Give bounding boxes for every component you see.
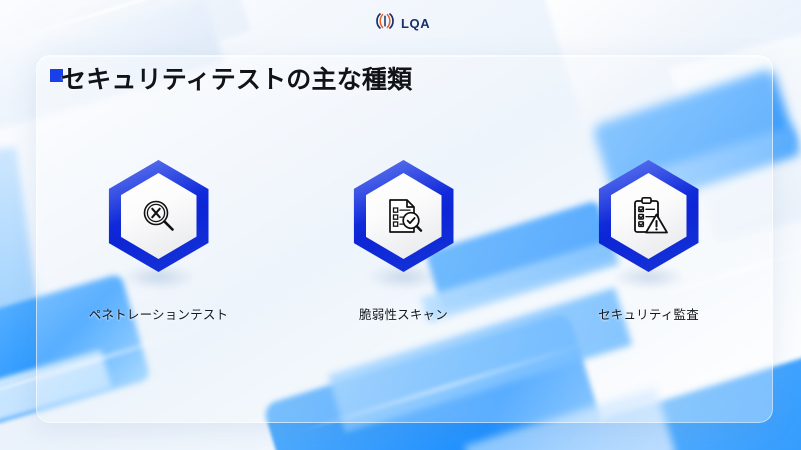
page-title-text: セキュリティテストの主な種類 — [61, 66, 412, 95]
hexagon-badge — [106, 160, 212, 278]
page-title: セキュリティテストの主な種類 — [50, 66, 412, 95]
clipboard-warning-icon — [611, 173, 687, 259]
list-item-security-audit[interactable]: セキュリティ監査 — [526, 160, 771, 323]
brand-logo: LQA — [375, 12, 430, 35]
list-item-label: ペネトレーションテスト — [89, 304, 228, 323]
list-item-label: 脆弱性スキャン — [359, 304, 448, 323]
list-item-penetration-test[interactable]: ペネトレーションテスト — [36, 160, 281, 323]
magnifier-x-icon — [121, 173, 197, 259]
hexagon-badge — [351, 160, 457, 278]
item-list: ペネトレーションテスト — [36, 160, 771, 323]
slide-canvas: LQA セキュリティテストの主な種類 — [0, 0, 801, 450]
brand-name: LQA — [401, 17, 430, 30]
document-scan-check-icon — [366, 173, 442, 259]
hexagon-badge — [596, 160, 702, 278]
list-item-vulnerability-scan[interactable]: 脆弱性スキャン — [281, 160, 526, 323]
list-item-label: セキュリティ監査 — [598, 304, 699, 323]
lqa-mark-icon — [375, 12, 395, 35]
